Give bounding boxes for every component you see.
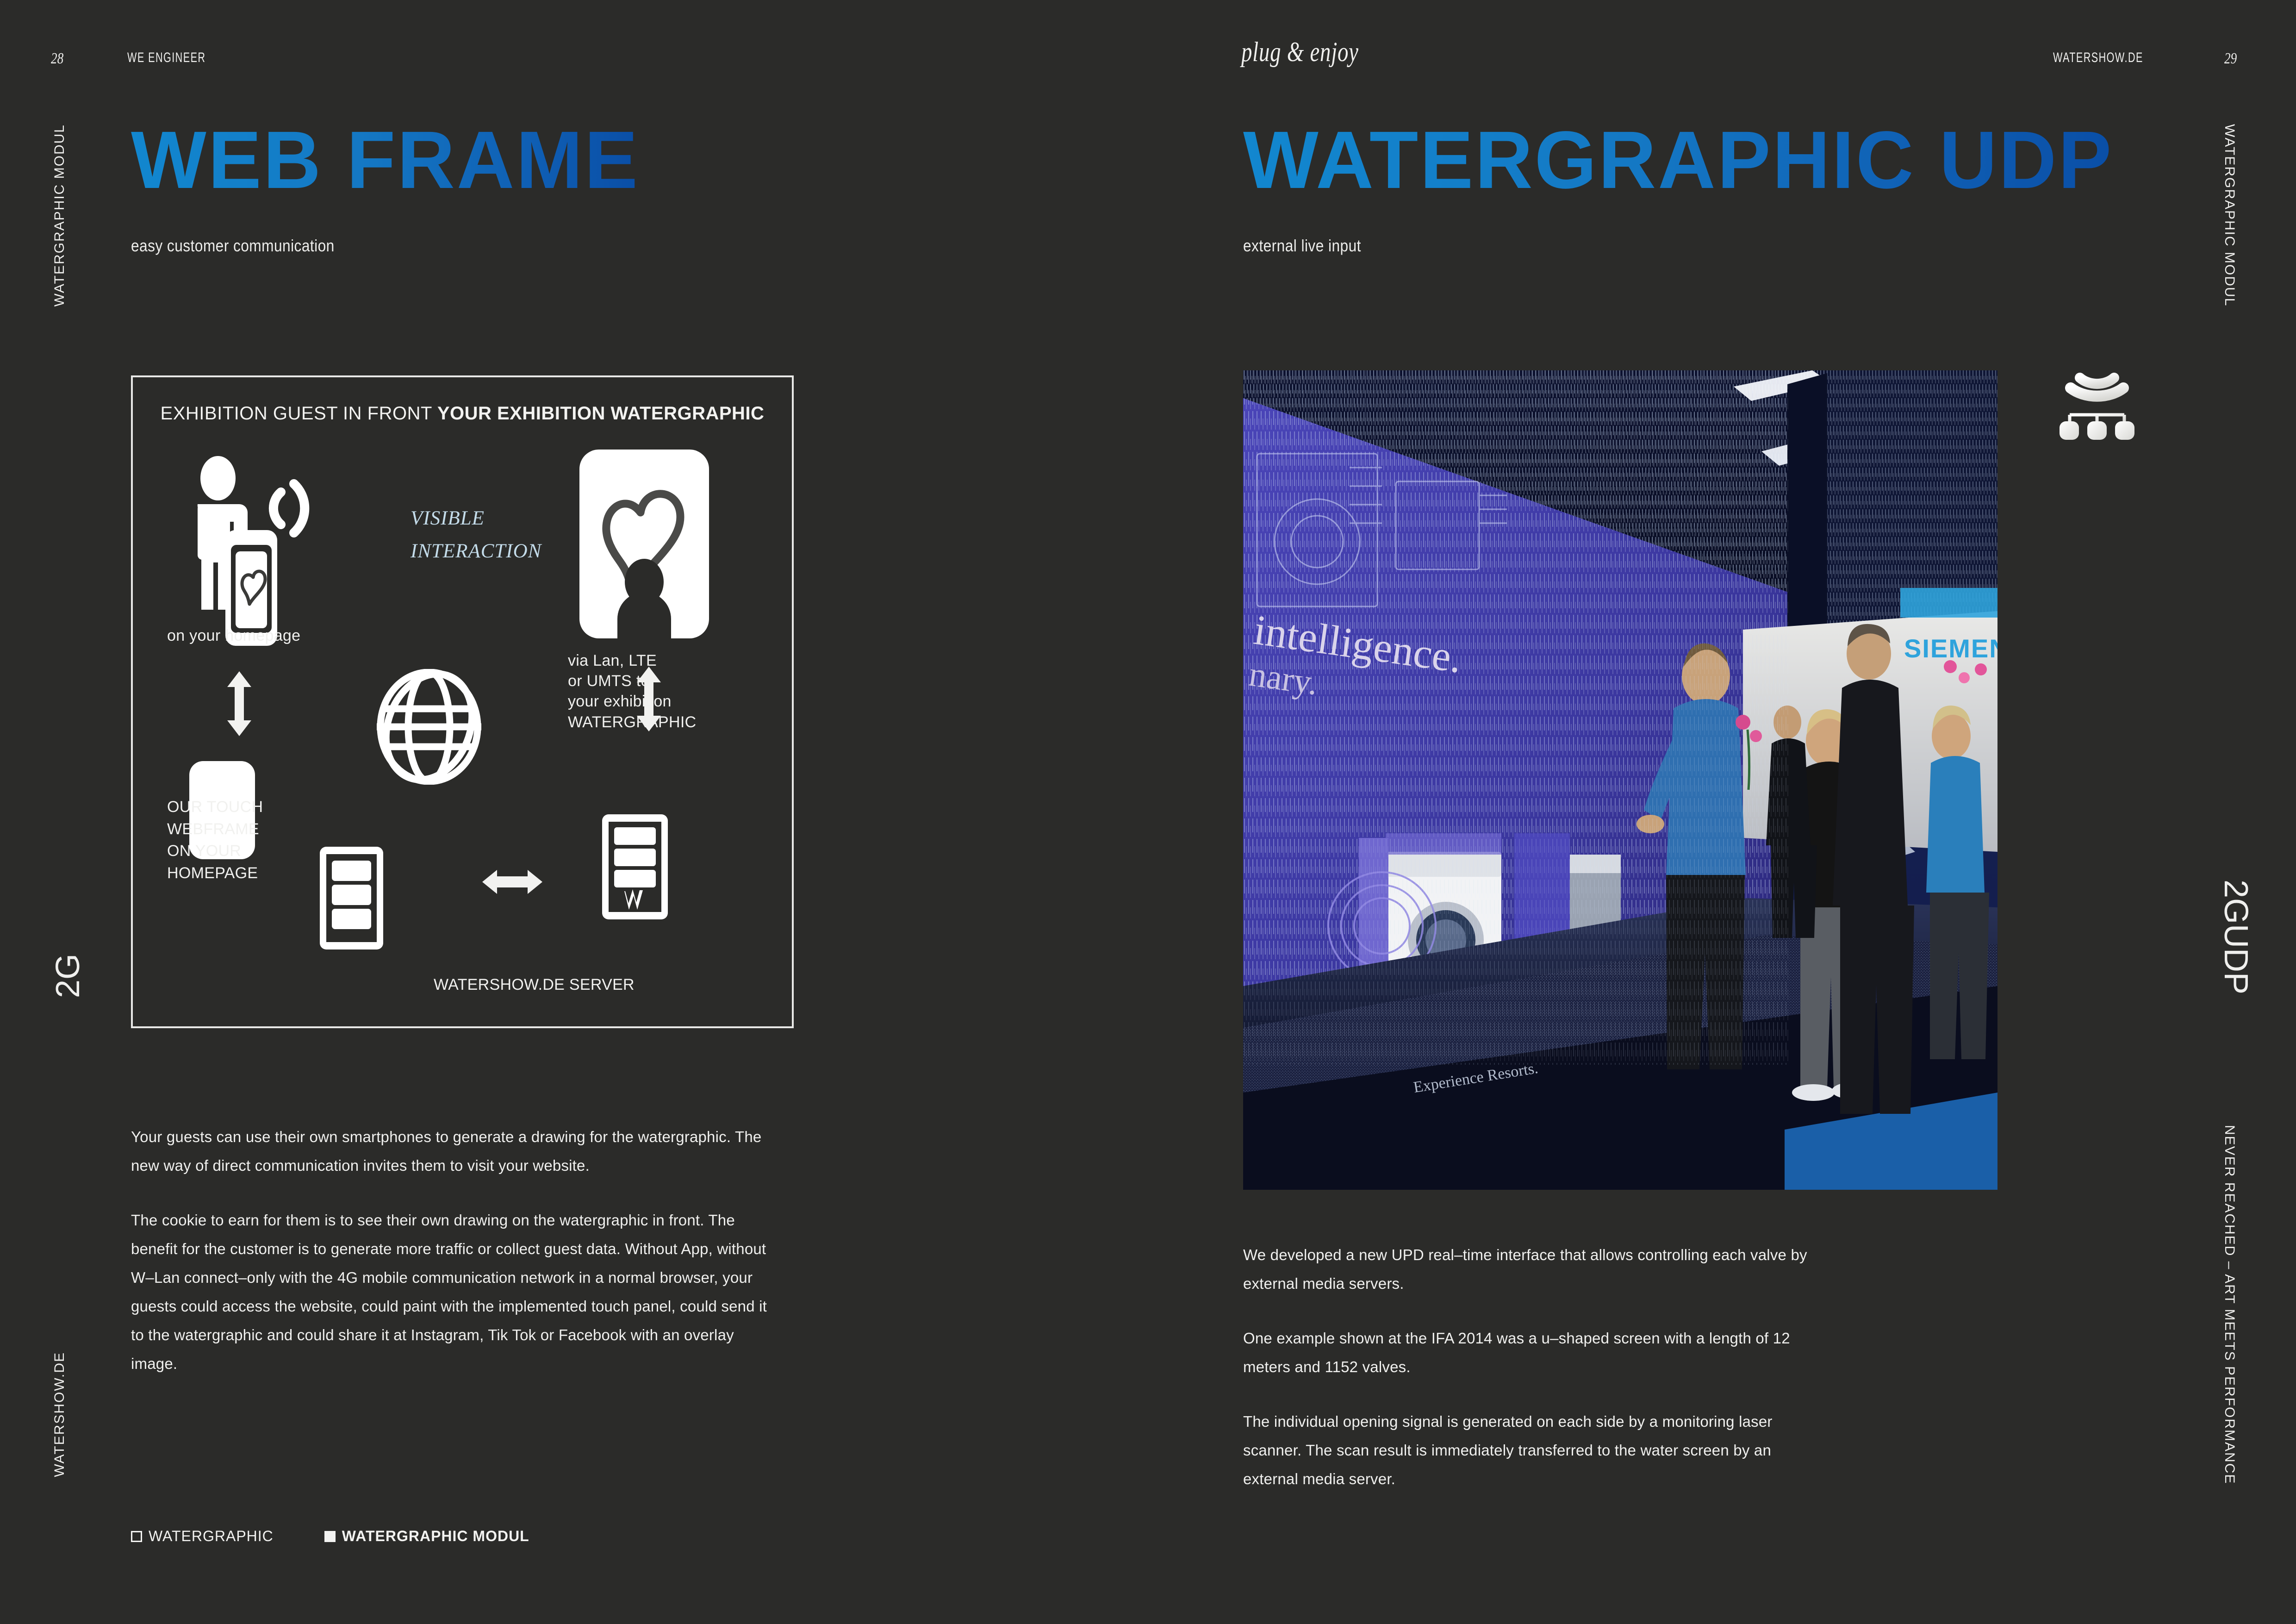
diagram-label-server: WATERSHOW.DE SERVER [434,974,635,995]
diagram-label-touch-webframe: OUR TOUCH WEBFRAME ON YOUR HOMEPAGE [167,796,263,884]
page-title-right: WATERGRAPHIC UDP [1243,119,2113,201]
footer-item-watergraphic-modul[interactable]: WATERGRAPHIC MODUL [324,1528,529,1545]
tradefair-watergraphic-photo: intelligence. nary. SIEMENS [1243,370,1997,1190]
globe-icon [371,669,487,785]
paragraph: One example shown at the IFA 2014 was a … [1243,1324,1812,1381]
paragraph: The cookie to earn for them is to see th… [131,1206,779,1378]
footer-item-watergraphic[interactable]: WATERGRAPHIC [131,1528,274,1545]
rail-left-code: 2G [49,954,87,998]
updown-arrow-icon-left [225,671,253,736]
footer-item-label: WATERGRAPHIC MODUL [342,1528,529,1545]
webframe-diagram: EXHIBITION GUEST IN FRONT YOUR EXHIBITIO… [131,375,794,1028]
running-head-left-label: WE ENGINEER [127,50,205,66]
webframe-panel-icon [318,845,385,951]
rail-right-tagline: NEVER REACHED – ART MEETS PERFORMANCE [2221,1125,2237,1484]
siemens-logo-text: SIEMENS [1904,634,1997,663]
leftright-arrow-icon [482,868,542,896]
diagram-heading-regular: EXHIBITION GUEST IN FRONT [161,403,437,424]
diagram-label-homepage: on your homepage [167,625,300,646]
paragraph: We developed a new UPD real–time interfa… [1243,1241,1812,1298]
rail-left-module-label: WATERGRAPHIC MODUL [52,124,68,306]
rail-right-code: 2GUDP [2217,880,2255,994]
page-title-left: WEB FRAME [131,119,640,201]
diagram-label-visible-interaction: VISIBLE INTERACTION [411,502,541,568]
checkbox-checked-icon[interactable] [324,1531,336,1542]
checkbox-unchecked-icon[interactable] [131,1531,142,1542]
page-number-left: 28 [51,50,63,68]
paragraph: The individual opening signal is generat… [1243,1407,1812,1493]
rail-left-website: WATERSHOW.DE [52,1352,68,1477]
watershow-server-icon [600,812,670,921]
rail-right-module-label: WATERGRAPHIC MODUL [2221,124,2237,306]
diagram-label-connection: via Lan, LTE or UMTS to your exhibition … [568,650,697,732]
body-copy-left: Your guests can use their own smartphone… [131,1123,779,1404]
network-broadcast-icon [2053,370,2141,440]
page-subtitle-left: easy customer communication [131,236,335,256]
magazine-spread: 28 WE ENGINEER plug & enjoy WATERSHOW.DE… [0,0,2296,1624]
diagram-heading-bold: YOUR EXHIBITION WATERGRAPHIC [437,403,765,424]
footer-module-checklist: WATERGRAPHIC WATERGRAPHIC MODUL [131,1528,529,1545]
footer-item-label: WATERGRAPHIC [149,1528,274,1545]
page-number-right: 29 [2224,50,2237,68]
running-head-right-label: WATERSHOW.DE [2053,50,2143,66]
paragraph: Your guests can use their own smartphone… [131,1123,779,1180]
body-copy-right: We developed a new UPD real–time interfa… [1243,1241,1812,1519]
page-subtitle-right: external live input [1243,236,1361,256]
diagram-heading: EXHIBITION GUEST IN FRONT YOUR EXHIBITIO… [133,403,792,424]
photo-illustration: intelligence. nary. SIEMENS [1243,370,1997,1190]
running-head-center: plug & enjoy [1241,36,1359,68]
watergraphic-screen-icon [575,447,714,641]
